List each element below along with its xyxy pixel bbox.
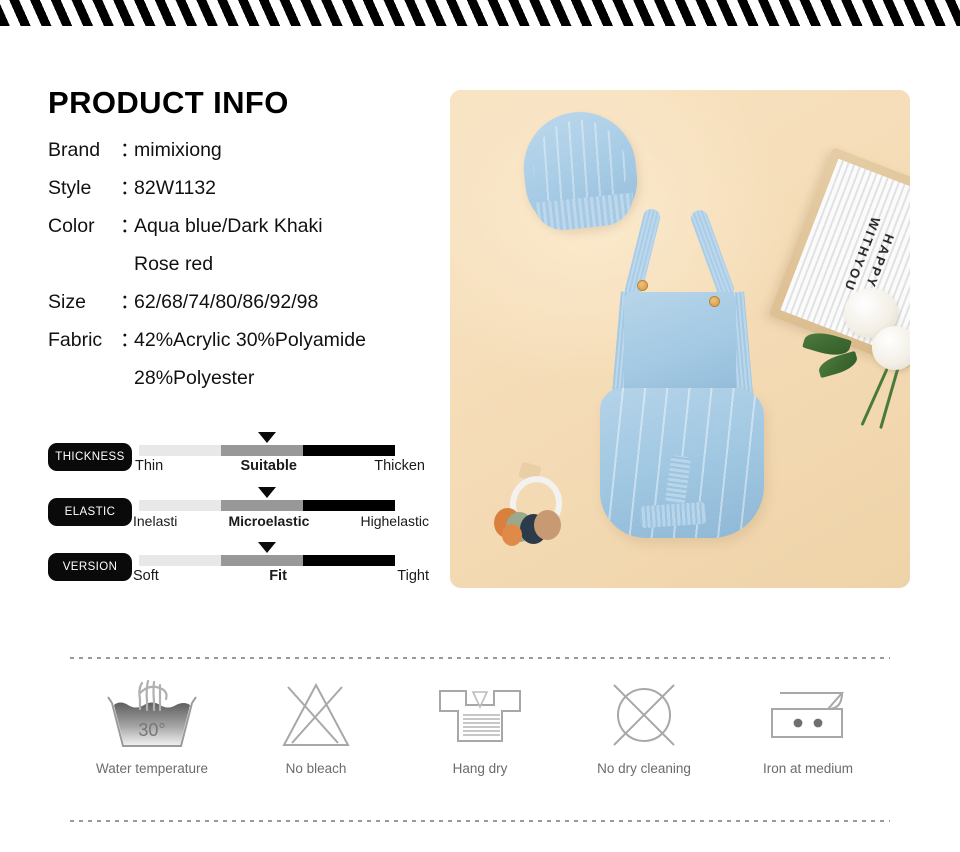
spec-value-size: 62/68/74/80/86/92/98 <box>134 283 448 321</box>
wooden-button-right-icon <box>709 296 720 307</box>
no-dry-cleaning-icon <box>602 676 686 754</box>
care-divider-bottom <box>70 820 890 822</box>
rating-segment-high <box>303 500 395 511</box>
rating-segment-high <box>303 445 395 456</box>
rating-marker-elastic <box>258 487 276 498</box>
rating-label-inelastic: Inelasti <box>133 513 177 529</box>
rating-label-thicken: Thicken <box>374 458 425 474</box>
spec-colon-fabric: ： <box>120 321 134 359</box>
attribute-ratings: THICKNESS Thin Suitable Thicken ELASTIC <box>48 432 448 597</box>
spec-row-brand: Brand ： mimixiong <box>48 131 448 169</box>
rating-label-microelastic: Microelastic <box>228 513 309 529</box>
care-item-iron-medium: Iron at medium <box>726 676 890 796</box>
rating-segment-low <box>139 445 221 456</box>
rating-segment-mid <box>221 445 303 456</box>
rating-bar-version: Soft Fit Tight <box>139 542 395 597</box>
care-item-water-temperature: 30° Water temperature <box>70 676 234 796</box>
spec-value-fabric-continued: 28%Polyester <box>48 359 448 397</box>
care-instructions: 30° Water temperature No bleach <box>70 676 890 796</box>
care-item-no-dry-cleaning: No dry cleaning <box>562 676 726 796</box>
spec-colon-style: ： <box>120 169 134 207</box>
rating-segment-mid <box>221 555 303 566</box>
rating-labels-elastic: Inelasti Microelastic Highelastic <box>133 513 429 529</box>
svg-text:30°: 30° <box>138 720 165 740</box>
romper-strap-right <box>689 208 736 300</box>
care-item-no-bleach: No bleach <box>234 676 398 796</box>
rating-bar-track-version <box>139 555 395 566</box>
spec-label-color: Color <box>48 207 120 245</box>
rating-row-elastic: ELASTIC Inelasti Microelastic Highelasti… <box>48 487 448 542</box>
care-label-no-bleach: No bleach <box>286 761 347 776</box>
spec-row-size: Size ： 62/68/74/80/86/92/98 <box>48 283 448 321</box>
knit-romper-image <box>586 208 776 538</box>
rating-label-thin: Thin <box>135 458 163 474</box>
spec-row-fabric: Fabric ： 42%Acrylic 30%Polyamide <box>48 321 448 359</box>
white-flower-image <box>872 326 910 370</box>
rating-row-version: VERSION Soft Fit Tight <box>48 542 448 597</box>
spec-colon-color: ： <box>120 207 134 245</box>
top-stripe-banner <box>0 0 960 26</box>
wooden-teether-toy-image <box>492 462 578 562</box>
wooden-button-left-icon <box>637 280 648 291</box>
rating-labels-thickness: Thin Suitable Thicken <box>135 458 425 474</box>
rating-labels-version: Soft Fit Tight <box>133 568 429 584</box>
rating-marker-version <box>258 542 276 553</box>
rating-label-tight: Tight <box>397 568 429 584</box>
spec-label-brand: Brand <box>48 131 120 169</box>
teether-bead <box>534 510 561 540</box>
rating-label-soft: Soft <box>133 568 159 584</box>
rating-bar-thickness: Thin Suitable Thicken <box>139 432 395 487</box>
rating-segment-low <box>139 555 221 566</box>
rating-label-fit: Fit <box>269 568 287 584</box>
spec-value-fabric: 42%Acrylic 30%Polyamide <box>134 321 448 359</box>
rating-bar-track-thickness <box>139 445 395 456</box>
spec-label-fabric: Fabric <box>48 321 120 359</box>
product-photo: HAPPY WITHYOU <box>450 90 910 588</box>
care-label-water-temperature: Water temperature <box>96 761 208 776</box>
spec-row-color: Color ： Aqua blue/Dark Khaki <box>48 207 448 245</box>
rating-label-suitable: Suitable <box>241 458 297 474</box>
care-label-hang-dry: Hang dry <box>453 761 508 776</box>
rating-segment-high <box>303 555 395 566</box>
spec-row-style: Style ： 82W1132 <box>48 169 448 207</box>
care-label-no-dry-cleaning: No dry cleaning <box>597 761 691 776</box>
iron-medium-icon <box>762 676 854 754</box>
hang-dry-icon <box>432 676 528 754</box>
spec-value-color: Aqua blue/Dark Khaki <box>134 207 448 245</box>
product-info-block: PRODUCT INFO Brand ： mimixiong Style ： 8… <box>48 84 448 397</box>
rating-marker-thickness <box>258 432 276 443</box>
product-info-page: PRODUCT INFO Brand ： mimixiong Style ： 8… <box>0 0 960 852</box>
teether-bead <box>502 524 522 546</box>
spec-value-style: 82W1132 <box>134 169 448 207</box>
care-divider-top <box>70 657 890 659</box>
romper-bodice <box>624 292 736 402</box>
rating-bar-elastic: Inelasti Microelastic Highelastic <box>139 487 395 542</box>
romper-leg-cuff <box>639 502 706 529</box>
spec-colon-size: ： <box>120 283 134 321</box>
no-bleach-icon <box>272 676 360 754</box>
rating-bar-track-elastic <box>139 500 395 511</box>
care-label-iron-medium: Iron at medium <box>763 761 853 776</box>
care-item-hang-dry: Hang dry <box>398 676 562 796</box>
spec-value-color-continued: Rose red <box>48 245 448 283</box>
spec-value-brand: mimixiong <box>134 131 448 169</box>
rating-badge-version: VERSION <box>48 553 132 581</box>
rating-segment-low <box>139 500 221 511</box>
rating-badge-elastic: ELASTIC <box>48 498 132 526</box>
rating-row-thickness: THICKNESS Thin Suitable Thicken <box>48 432 448 487</box>
spec-label-size: Size <box>48 283 120 321</box>
spec-colon-brand: ： <box>120 131 134 169</box>
rating-badge-thickness: THICKNESS <box>48 443 132 471</box>
spec-label-style: Style <box>48 169 120 207</box>
page-title: PRODUCT INFO <box>48 84 448 122</box>
rating-segment-mid <box>221 500 303 511</box>
wash-basin-icon: 30° <box>104 676 200 754</box>
rating-label-highelastic: Highelastic <box>361 513 429 529</box>
